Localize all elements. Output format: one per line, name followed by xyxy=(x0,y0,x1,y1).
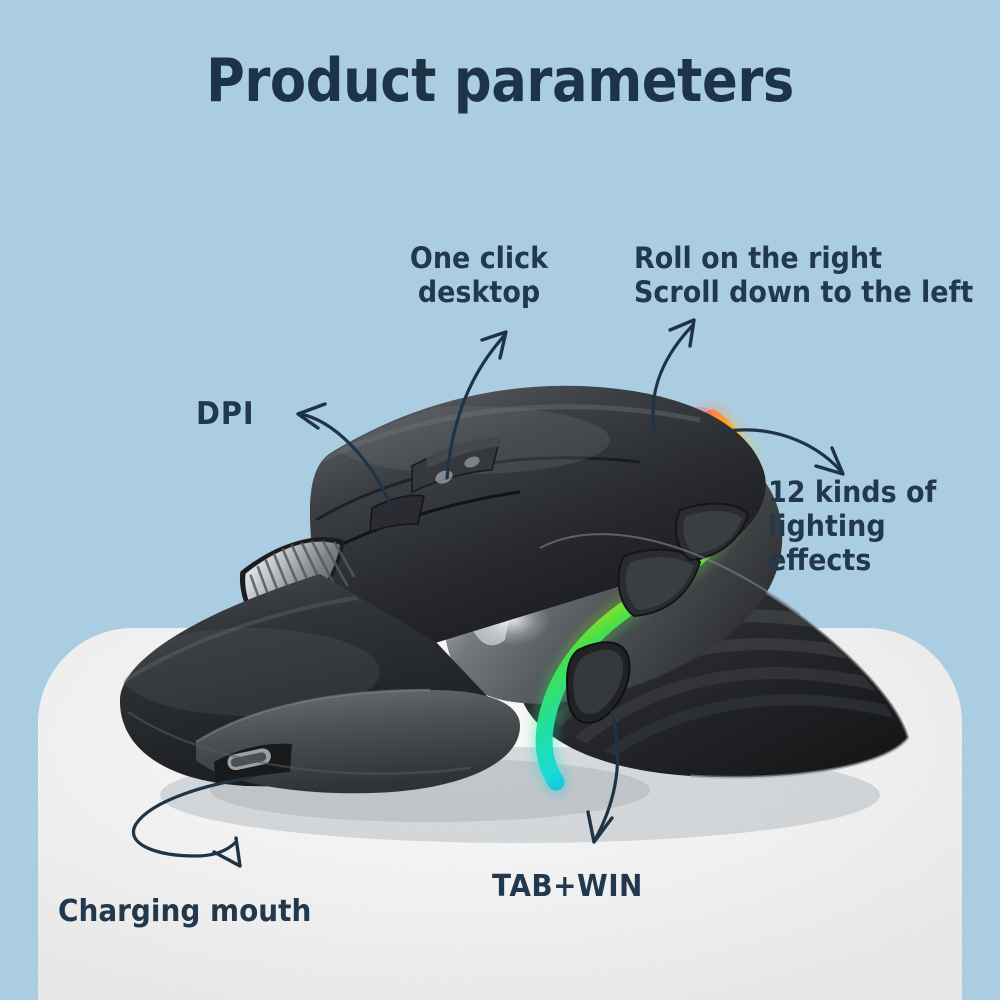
callout-label-one-click-desktop: One click desktop xyxy=(409,241,549,309)
page-title: Product parameters xyxy=(60,46,940,116)
callout-label-charging-mouth: Charging mouth xyxy=(58,894,311,929)
callout-label-lighting-effects: 12 kinds of lighting effects xyxy=(768,475,984,578)
mousepad-surface xyxy=(38,628,962,1000)
product-infographic: Product parameters DPI One click desktop… xyxy=(0,0,1000,1000)
callout-label-dpi: DPI xyxy=(196,396,255,433)
callout-label-roll-scroll: Roll on the right Scroll down to the lef… xyxy=(634,241,973,309)
callout-label-tab-win: TAB+WIN xyxy=(492,869,643,904)
